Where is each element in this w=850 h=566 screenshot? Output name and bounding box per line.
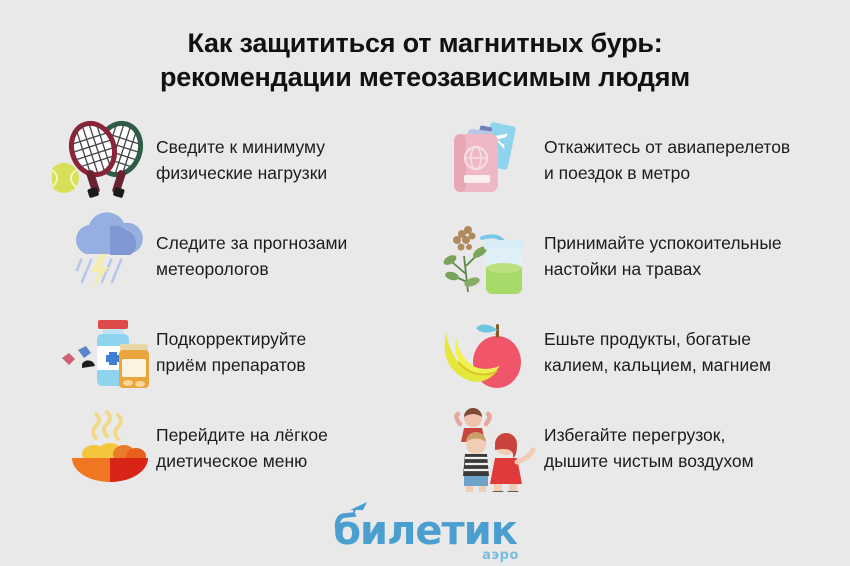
hot-food-bowl-icon bbox=[52, 404, 156, 492]
tips-column-right: Откажитесь от авиаперелетов и поездок в … bbox=[430, 112, 808, 496]
tip-herbal-sedatives: Принимайте успокоительные настойки на тр… bbox=[440, 208, 808, 304]
page-title: Как защититься от магнитных бурь: рекоме… bbox=[0, 0, 850, 94]
title-line-1: Как защититься от магнитных бурь: bbox=[0, 26, 850, 60]
tip-reduce-physical-activity: Сведите к минимуму физические нагрузки bbox=[52, 112, 430, 208]
infographic-page: Как защититься от магнитных бурь: рекоме… bbox=[0, 0, 850, 566]
tip-text: Откажитесь от авиаперелетов и поездок в … bbox=[544, 134, 790, 186]
medicine-bottles-icon bbox=[52, 308, 156, 396]
tip-line-2: дышите чистым воздухом bbox=[544, 448, 754, 474]
tip-line-1: Следите за прогнозами bbox=[156, 230, 347, 256]
tip-text: Ешьте продукты, богатые калием, кальцием… bbox=[544, 326, 771, 378]
tip-text: Подкорректируйте приём препаратов bbox=[156, 326, 306, 378]
title-line-2: рекомендации метеозависимым людям bbox=[0, 60, 850, 94]
tip-line-2: калием, кальцием, магнием bbox=[544, 352, 771, 378]
tip-line-1: Откажитесь от авиаперелетов bbox=[544, 134, 790, 160]
tip-line-1: Подкорректируйте bbox=[156, 326, 306, 352]
children-icon bbox=[440, 404, 544, 492]
tips-column-left: Сведите к минимуму физические нагрузки bbox=[52, 112, 430, 496]
tips-columns: Сведите к минимуму физические нагрузки bbox=[0, 112, 850, 496]
tip-potassium-rich-food: Ешьте продукты, богатые калием, кальцием… bbox=[440, 304, 808, 400]
tip-text: Принимайте успокоительные настойки на тр… bbox=[544, 230, 782, 282]
herbal-drink-icon bbox=[440, 212, 544, 300]
tennis-rackets-icon bbox=[52, 116, 156, 204]
banana-apple-icon bbox=[440, 308, 544, 396]
tip-line-2: метеорологов bbox=[156, 256, 347, 282]
passport-tickets-icon bbox=[440, 116, 544, 204]
tip-line-2: настойки на травах bbox=[544, 256, 782, 282]
rain-cloud-icon bbox=[52, 212, 156, 300]
tip-line-2: физические нагрузки bbox=[156, 160, 327, 186]
tip-line-1: Избегайте перегрузок, bbox=[544, 422, 754, 448]
tip-avoid-flights-metro: Откажитесь от авиаперелетов и поездок в … bbox=[440, 112, 808, 208]
tip-line-2: и поездок в метро bbox=[544, 160, 790, 186]
tip-text: Сведите к минимуму физические нагрузки bbox=[156, 134, 327, 186]
tip-line-2: приём препаратов bbox=[156, 352, 306, 378]
tip-line-1: Перейдите на лёгкое bbox=[156, 422, 328, 448]
tip-line-2: диетическое меню bbox=[156, 448, 328, 474]
tip-adjust-medication: Подкорректируйте приём препаратов bbox=[52, 304, 430, 400]
logo-subtitle: аэро bbox=[482, 548, 519, 563]
tip-line-1: Сведите к минимуму bbox=[156, 134, 327, 160]
tip-avoid-overload-fresh-air: Избегайте перегрузок, дышите чистым возд… bbox=[440, 400, 808, 496]
tip-watch-forecasts: Следите за прогнозами метеорологов bbox=[52, 208, 430, 304]
airplane-icon bbox=[349, 501, 371, 520]
tip-text: Избегайте перегрузок, дышите чистым возд… bbox=[544, 422, 754, 474]
tip-line-1: Ешьте продукты, богатые bbox=[544, 326, 771, 352]
tip-line-1: Принимайте успокоительные bbox=[544, 230, 782, 256]
brand-logo[interactable]: билетик аэро bbox=[0, 510, 850, 552]
tip-light-diet: Перейдите на лёгкое диетическое меню bbox=[52, 400, 430, 496]
tip-text: Следите за прогнозами метеорологов bbox=[156, 230, 347, 282]
tip-text: Перейдите на лёгкое диетическое меню bbox=[156, 422, 328, 474]
